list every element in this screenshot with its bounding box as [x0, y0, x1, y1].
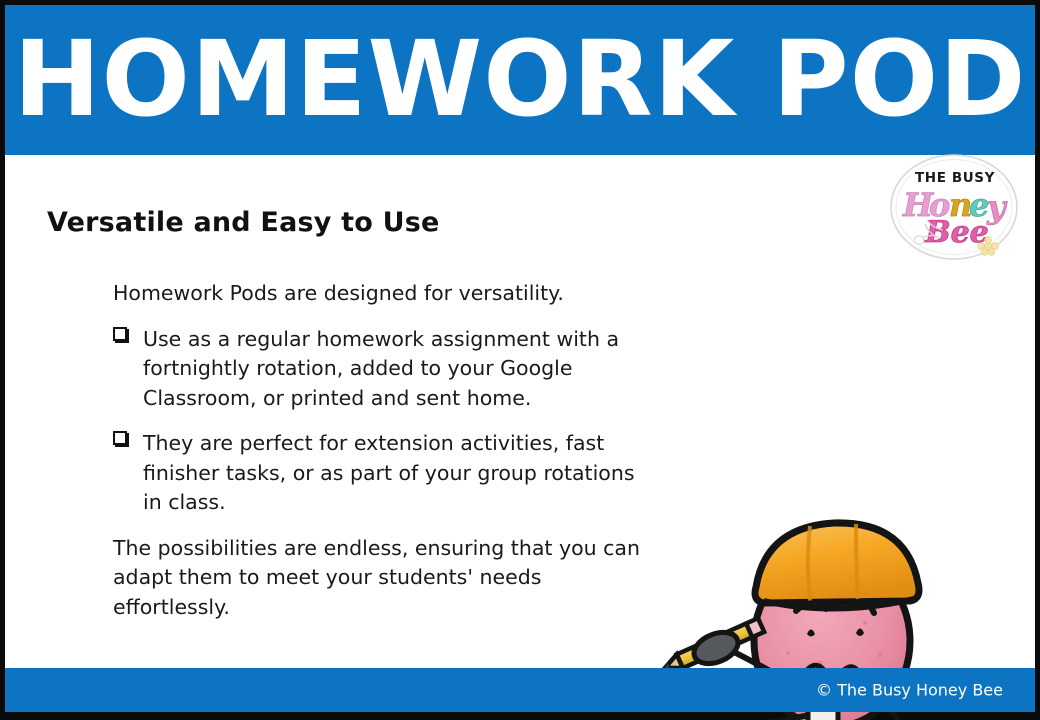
header-band: HOMEWORK POD — [5, 5, 1035, 155]
busy-honey-bee-logo: THE BUSY H o n e y Bee — [889, 154, 1020, 264]
copyright-credit: © The Busy Honey Bee — [816, 681, 1003, 700]
logo-line1: THE BUSY — [915, 170, 995, 186]
hollow-square-bullet-icon — [113, 327, 127, 341]
page-title: HOMEWORK POD — [5, 32, 1035, 128]
closing-paragraph: The possibilities are endless, ensuring … — [113, 534, 643, 623]
body-area: Versatile and Easy to Use Homework Pods … — [5, 155, 1035, 668]
content-text-block: Homework Pods are designed for versatili… — [113, 279, 643, 622]
hollow-square-bullet-icon — [113, 431, 127, 445]
list-item: Use as a regular homework assignment wit… — [113, 325, 643, 414]
section-heading: Versatile and Easy to Use — [47, 207, 440, 238]
slide-frame-right — [1035, 0, 1040, 720]
svg-text:y: y — [986, 188, 1008, 226]
list-item-label: Use as a regular homework assignment wit… — [143, 327, 619, 410]
footer-band: © The Busy Honey Bee — [5, 668, 1035, 712]
list-item: They are perfect for extension activitie… — [113, 429, 643, 518]
slide-canvas: HOMEWORK POD Versatile and Easy to Use H… — [0, 0, 1040, 720]
intro-paragraph: Homework Pods are designed for versatili… — [113, 279, 643, 309]
list-item-label: They are perfect for extension activitie… — [143, 431, 635, 514]
